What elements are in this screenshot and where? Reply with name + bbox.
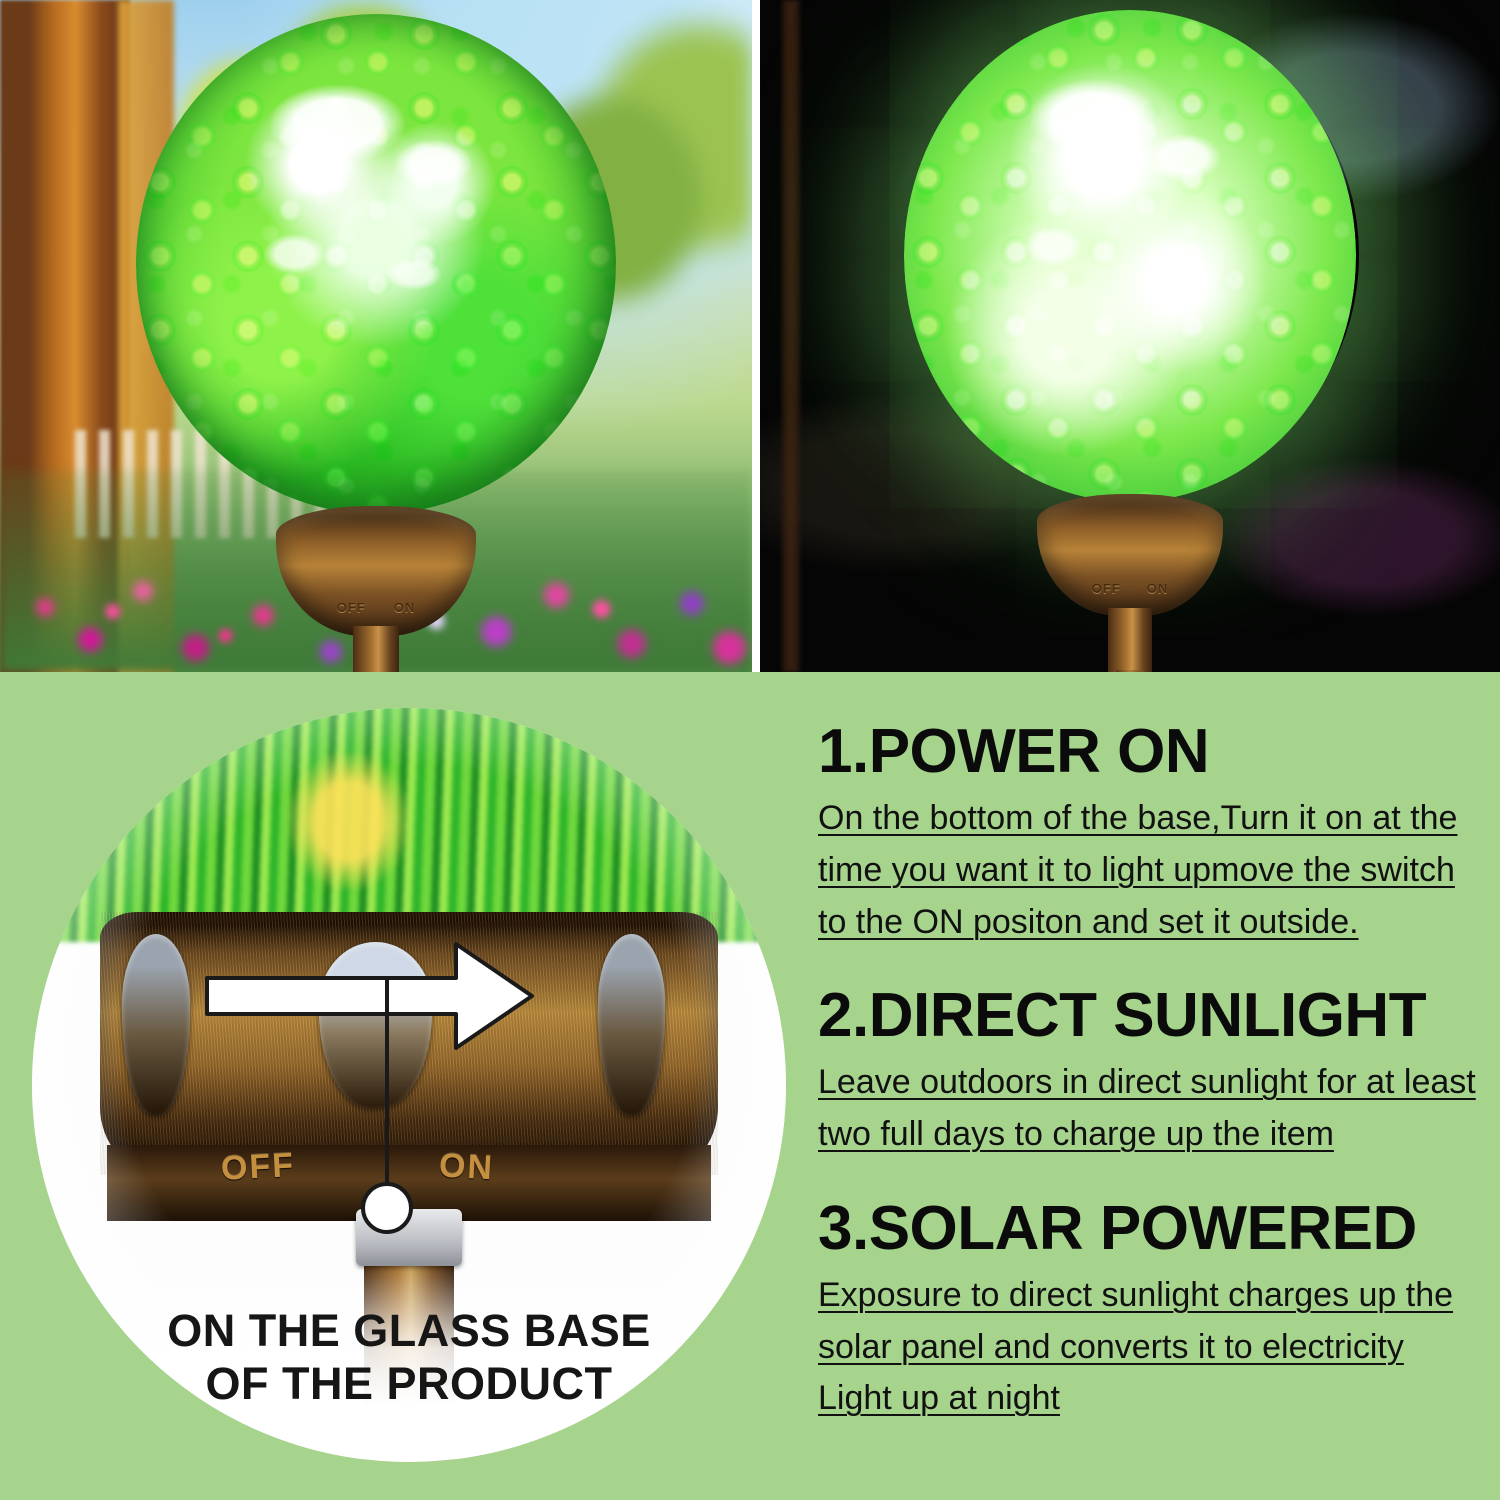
- power-switch[interactable]: [356, 1209, 462, 1266]
- globe-specular-highlights-night: [904, 10, 1356, 502]
- base-closeup-inset: OFF ON ON THE GLASS BASE OF THE PRODUCT: [32, 708, 786, 1462]
- product-photo-strip: OFF ON OFF ON: [0, 0, 1500, 672]
- inset-caption-line2: OF THE PRODUCT: [32, 1357, 786, 1410]
- step-3-line-2: solar panel and converts it to electrici…: [818, 1322, 1478, 1374]
- step-3-line-3: Light up at night: [818, 1373, 1478, 1425]
- glass-glint: [288, 753, 409, 889]
- photo-night-illuminated: OFF ON: [760, 0, 1500, 672]
- inset-caption: ON THE GLASS BASE OF THE PRODUCT: [32, 1304, 786, 1410]
- bronze-stake-collar-day: [353, 626, 399, 672]
- gazing-ball-assembly-day: OFF ON: [136, 14, 616, 514]
- step-2-line-2: two full days to charge up the item: [818, 1109, 1478, 1161]
- base-off-label: OFF: [1092, 581, 1121, 596]
- step-3-line-1: Exposure to direct sunlight charges up t…: [818, 1270, 1478, 1322]
- step-direct-sunlight: 2.DIRECT SUNLIGHT Leave outdoors in dire…: [818, 984, 1478, 1161]
- step-solar-powered: 3.SOLAR POWERED Exposure to direct sunli…: [818, 1197, 1478, 1425]
- gazing-ball-assembly-night: OFF ON: [904, 10, 1356, 502]
- step-2-title: 2.DIRECT SUNLIGHT: [818, 984, 1478, 1047]
- step-3-body: Exposure to direct sunlight charges up t…: [818, 1270, 1478, 1425]
- bronze-stake-night: [1116, 670, 1144, 672]
- base-switch-labels-night: OFF ON: [1037, 581, 1223, 596]
- base-on-label: ON: [1147, 581, 1169, 596]
- step-2-body: Leave outdoors in direct sunlight for at…: [818, 1057, 1478, 1160]
- glass-globe-day: [136, 14, 616, 514]
- bronze-stake-collar-night: [1108, 608, 1152, 672]
- step-1-line-3: to the ON positon and set it outside.: [818, 897, 1478, 949]
- base-vent-slot-center: [319, 942, 432, 1108]
- base-switch-labels-day: OFF ON: [276, 600, 476, 615]
- inset-on-label: ON: [438, 1147, 495, 1189]
- glass-globe-bottom-edge: [32, 708, 786, 942]
- globe-rim-shading: [136, 14, 616, 514]
- glass-globe-night: [904, 10, 1356, 502]
- step-2-line-1: Leave outdoors in direct sunlight for at…: [818, 1057, 1478, 1109]
- instruction-steps: 1.POWER ON On the bottom of the base,Tur…: [818, 720, 1478, 1425]
- inset-off-label: OFF: [220, 1146, 296, 1189]
- step-1-line-2: time you want it to light upmove the swi…: [818, 845, 1478, 897]
- step-power-on: 1.POWER ON On the bottom of the base,Tur…: [818, 720, 1478, 948]
- inset-caption-line1: ON THE GLASS BASE: [32, 1304, 786, 1357]
- base-off-label: OFF: [337, 600, 366, 615]
- step-1-line-1: On the bottom of the base,Turn it on at …: [818, 793, 1478, 845]
- night-post-silhouette: [782, 0, 800, 672]
- step-3-title: 3.SOLAR POWERED: [818, 1197, 1478, 1260]
- instructions-panel: OFF ON ON THE GLASS BASE OF THE PRODUCT …: [0, 676, 1500, 1500]
- step-1-title: 1.POWER ON: [818, 720, 1478, 783]
- step-1-body: On the bottom of the base,Turn it on at …: [818, 793, 1478, 948]
- photo-daytime-garden: OFF ON: [0, 0, 752, 672]
- base-on-label: ON: [394, 600, 416, 615]
